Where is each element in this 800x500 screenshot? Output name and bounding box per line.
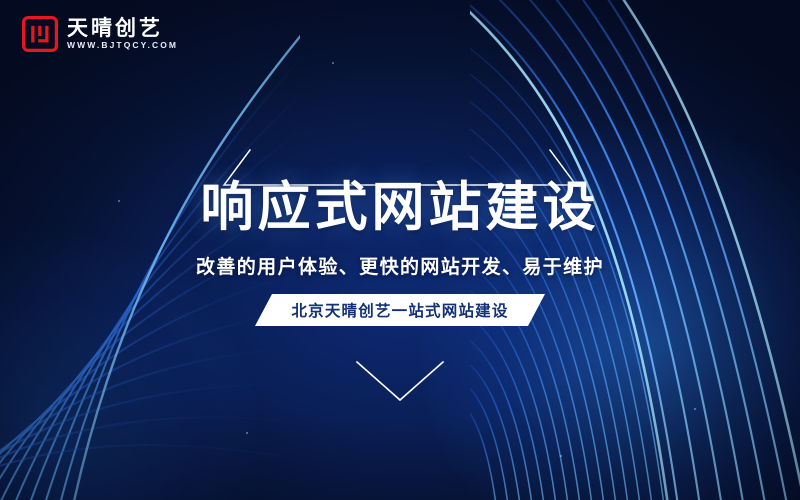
hero-content: 响应式网站建设 改善的用户体验、更快的网站开发、易于维护 北京天晴创艺一站式网站… xyxy=(0,0,800,500)
brand-name: 天晴创艺 xyxy=(67,18,178,39)
ribbon-label: 北京天晴创艺一站式网站建设 xyxy=(291,299,508,321)
brand-logo[interactable]: 天晴创艺 WWW.BJTQCY.COM xyxy=(22,16,178,52)
ribbon-shape: 北京天晴创艺一站式网站建设 xyxy=(255,294,545,326)
tianqing-square-mark-icon xyxy=(22,16,58,52)
brand-logo-text: 天晴创艺 WWW.BJTQCY.COM xyxy=(67,18,178,50)
chevron-down-icon xyxy=(355,360,445,404)
banner-stage: 天晴创艺 WWW.BJTQCY.COM 响应式网站建设 改善的用户体验、更快的网… xyxy=(0,0,800,500)
ribbon-banner: 北京天晴创艺一站式网站建设 xyxy=(0,294,800,326)
page-subtitle: 改善的用户体验、更快的网站开发、易于维护 xyxy=(0,252,800,279)
page-title: 响应式网站建设 xyxy=(0,178,800,237)
brand-website: WWW.BJTQCY.COM xyxy=(67,41,178,50)
